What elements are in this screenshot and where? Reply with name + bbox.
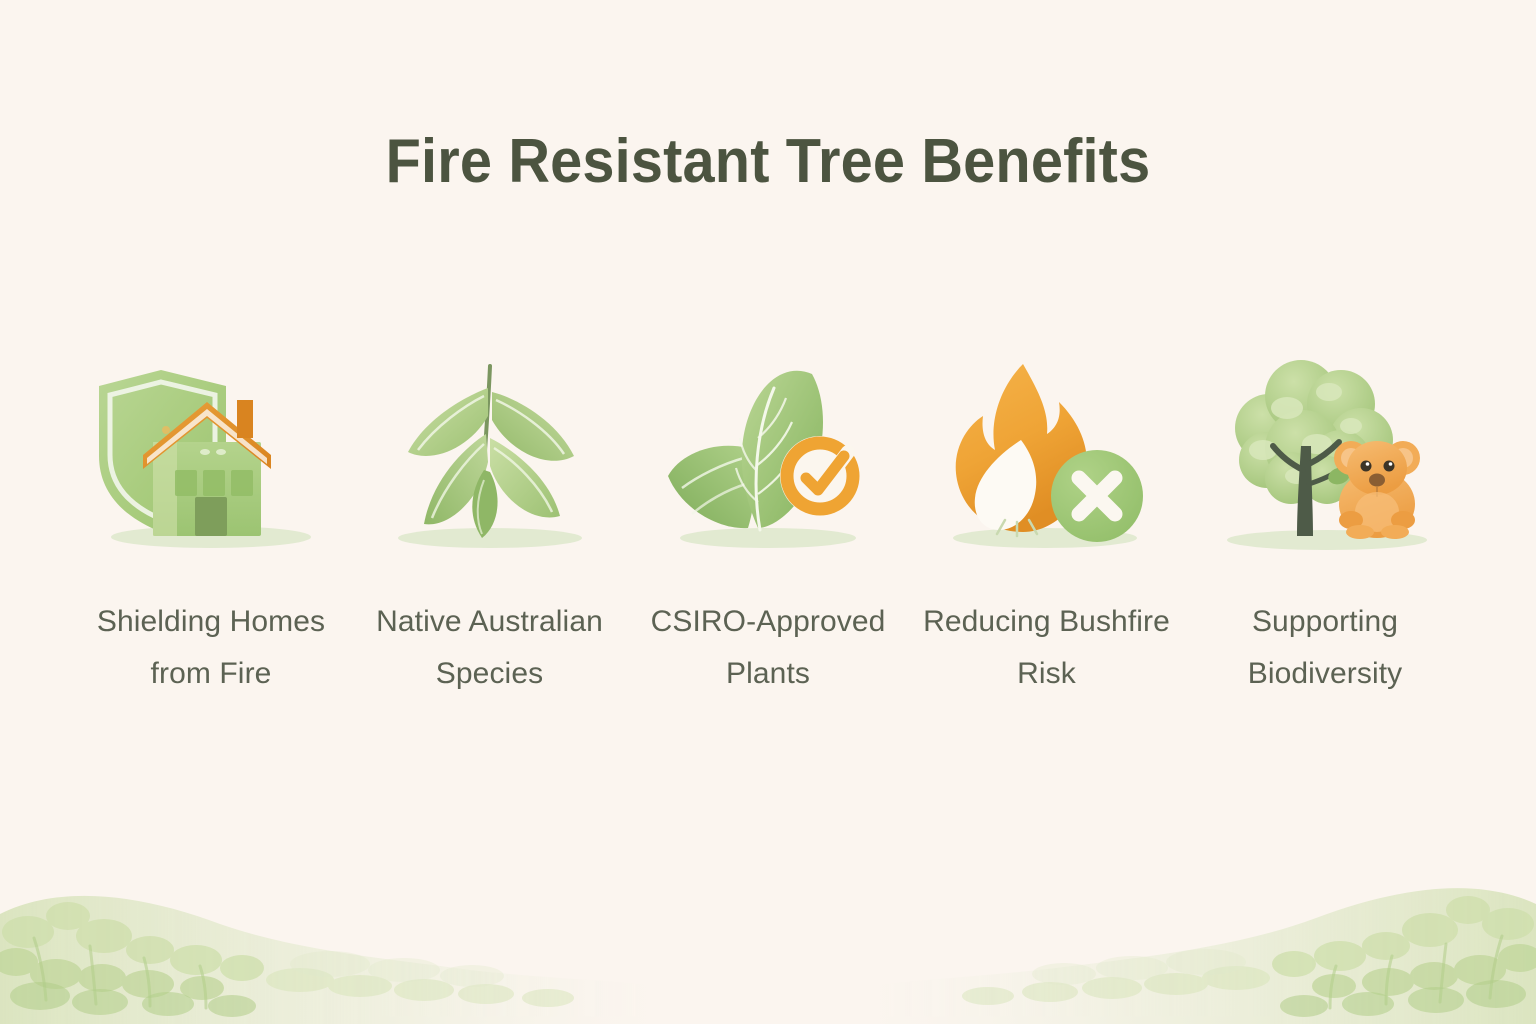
flame-no-icon xyxy=(927,352,1167,562)
infographic-canvas: Fire Resistant Tree Benefits xyxy=(0,0,1536,1024)
benefit-item-csiro-approved: CSIRO-Approved Plants xyxy=(635,352,901,699)
benefit-item-reducing-bushfire: Reducing Bushfire Risk xyxy=(914,352,1180,699)
benefit-label: Reducing Bushfire Risk xyxy=(922,596,1172,699)
leaf-check-icon xyxy=(648,352,888,562)
benefit-item-native-species: Native Australian Species xyxy=(357,352,623,699)
benefits-row: Shielding Homes from Fire xyxy=(78,352,1458,699)
benefit-label: Shielding Homes from Fire xyxy=(86,596,336,699)
benefit-label: CSIRO-Approved Plants xyxy=(635,596,901,699)
benefit-label: Supporting Biodiversity xyxy=(1200,596,1450,699)
bottom-foliage-decoration xyxy=(0,764,1536,1024)
eucalyptus-leaves-icon xyxy=(370,352,610,562)
benefit-label: Native Australian Species xyxy=(365,596,615,699)
benefit-item-supporting-biodiversity: Supporting Biodiversity xyxy=(1192,352,1458,699)
tree-koala-icon xyxy=(1205,352,1445,562)
page-title: Fire Resistant Tree Benefits xyxy=(54,128,1482,196)
shield-house-icon xyxy=(91,352,331,562)
benefit-item-shielding-homes: Shielding Homes from Fire xyxy=(78,352,344,699)
